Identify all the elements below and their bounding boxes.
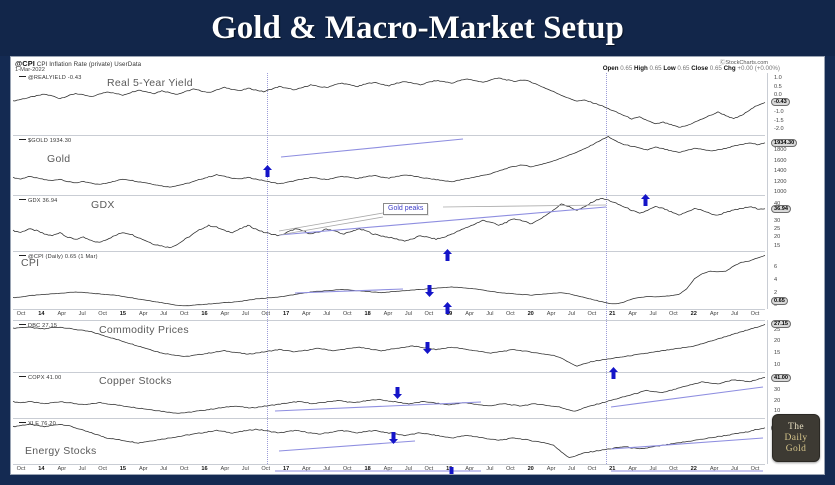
down-arrow-marker (393, 387, 402, 399)
gold-peaks-leader-lines (11, 57, 824, 474)
chart-plot-area: @CPI CPI Inflation Rate (private) UserDa… (11, 57, 824, 474)
logo-line-2: Daily (784, 433, 807, 444)
logo-line-1: The (788, 422, 804, 433)
logo-line-3: Gold (786, 444, 807, 455)
page-title: Gold & Macro-Market Setup (211, 10, 624, 47)
title-banner: Gold & Macro-Market Setup (0, 0, 835, 56)
down-arrow-marker (423, 342, 432, 354)
callout-leader-2 (443, 205, 606, 207)
up-arrow-marker (263, 165, 272, 177)
thedailygold-logo: The Daily Gold (772, 414, 820, 462)
up-arrow-marker (641, 194, 650, 206)
screenshot-root: Gold & Macro-Market Setup @CPI CPI Infla… (0, 0, 835, 485)
down-arrow-marker (425, 285, 434, 297)
up-arrow-marker (609, 367, 618, 379)
callout-leader-0 (279, 213, 383, 231)
down-arrow-marker (447, 467, 456, 475)
up-arrow-marker (443, 249, 452, 261)
up-arrow-marker (443, 302, 452, 314)
callout-leader-1 (279, 217, 383, 235)
down-arrow-marker (389, 432, 398, 444)
stockcharts-chart: @CPI CPI Inflation Rate (private) UserDa… (10, 56, 825, 475)
